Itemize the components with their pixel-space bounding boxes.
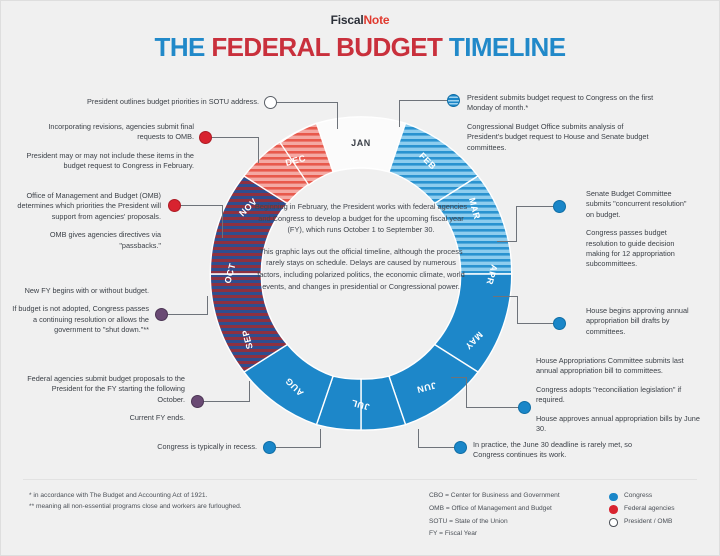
annotation-sotu-line-1: President outlines budget priorities in … [41,97,259,107]
annotation-dec-line-1: Incorporating revisions, agencies submit… [19,122,194,143]
leader-line-sep-h [202,401,250,402]
leader-line-nov-v [222,205,223,238]
annotation-jun-approps: House Appropriations Committee submits l… [536,356,706,434]
legend-label-president: President / OMB [624,518,672,525]
leader-line-apr-v [516,206,517,242]
leader-line-may-h2 [493,296,518,297]
title-word-the: THE [155,32,205,62]
center-paragraph-1: Beginning in February, the President wor… [253,201,469,236]
leader-line-jul-h [418,447,458,448]
annotation-nov-line-1: Office of Management and Budget (OMB) de… [9,191,161,222]
annotation-apr-line-1: Senate Budget Committee submits "concurr… [586,189,696,220]
annotation-nov-line-2: OMB gives agencies directives via "passb… [9,230,161,251]
leader-line-jun-h2 [451,377,467,378]
marker-dot-aug-recess[interactable] [263,441,276,454]
annotation-apr-line-2: Congress passes budget resolution to gui… [586,228,696,270]
footnote-2: ** meaning all non-essential programs cl… [29,501,242,512]
legend-key: Congress Federal agencies President / OM… [609,490,675,528]
leader-line-nov-h [180,205,223,206]
annotation-jun-line-2: Congress adopts "reconciliation legislat… [536,385,706,406]
annotation-feb-request: President submits budget request to Cong… [467,93,657,153]
brand-part-note: Note [363,13,389,27]
leader-line-sotu-v [337,102,338,129]
legend-item-president: President / OMB [609,516,675,529]
leader-line-sotu-h [276,102,338,103]
leader-line-apr-h [516,206,558,207]
month-label-jan: JAN [351,138,371,148]
marker-dot-dec-agencies[interactable] [199,131,212,144]
annotation-jul-practice: In practice, the June 30 deadline is rar… [473,440,635,461]
marker-dot-jun-approps[interactable] [518,401,531,414]
annotation-aug-line-1: Congress is typically in recess. [81,442,257,452]
legend-label-congress: Congress [624,492,652,499]
marker-dot-feb-request[interactable] [447,94,460,107]
legend-item-congress: Congress [609,490,675,503]
title-word-budget: BUDGET [336,32,442,62]
abbreviation-sotu: SOTU = State of the Union [429,516,560,529]
marker-dot-apr-resolution[interactable] [553,200,566,213]
annotation-nov-omb: Office of Management and Budget (OMB) de… [9,191,161,251]
abbreviation-fy: FY = Fiscal Year [429,528,560,541]
annotation-sotu: President outlines budget priorities in … [41,97,259,107]
annotation-dec-line-2: President may or may not include these i… [19,151,194,172]
annotation-may-line-1: House begins approving annual appropriat… [586,306,698,337]
annotation-jun-line-1: House Appropriations Committee submits l… [536,356,706,377]
footnote-1: * in accordance with The Budget and Acco… [29,490,242,501]
center-description: Beginning in February, the President wor… [253,201,469,292]
marker-dot-sotu[interactable] [264,96,277,109]
leader-line-jul-v [418,429,419,448]
leader-line-jun-v [466,377,467,408]
annotation-jun-line-3: House approves annual appropriation bill… [536,414,706,435]
abbreviation-cbo: CBO = Center for Business and Government [429,490,560,503]
annotation-may-house: House begins approving annual appropriat… [586,306,698,337]
annotation-feb-line-2: Congressional Budget Office submits anal… [467,122,657,153]
abbreviation-omb: OMB = Office of Management and Budget [429,503,560,516]
marker-dot-nov-omb[interactable] [168,199,181,212]
leader-line-sep-v [249,381,250,402]
leader-line-aug-v [320,429,321,448]
leader-line-feb-h [399,100,451,101]
page-title: THE FEDERAL BUDGET TIMELINE [1,32,719,63]
annotation-oct-line-1: New FY begins with or without budget. [9,286,149,296]
leader-line-dec-h [211,137,259,138]
annotation-oct-line-2: If budget is not adopted, Congress passe… [9,304,149,335]
annotation-sep-agencies: Federal agencies submit budget proposals… [25,374,185,424]
legend-swatch-congress-icon [609,493,618,502]
leader-line-oct-h [166,314,208,315]
leader-line-may-v [517,296,518,324]
marker-dot-may-house[interactable] [553,317,566,330]
leader-line-jun-h [466,407,522,408]
legend-item-agencies: Federal agencies [609,503,675,516]
annotation-jul-line-1: In practice, the June 30 deadline is rar… [473,440,635,461]
marker-dot-oct-newfy[interactable] [155,308,168,321]
footnotes: * in accordance with The Budget and Acco… [29,490,242,512]
annotation-oct-newfy: New FY begins with or without budget. If… [9,286,149,336]
annotation-dec-agencies: Incorporating revisions, agencies submit… [19,122,194,172]
abbreviation-list: CBO = Center for Business and Government… [429,490,560,541]
leader-line-may-h [517,323,557,324]
annotation-apr-resolution: Senate Budget Committee submits "concurr… [586,189,696,270]
leader-line-feb-v [399,100,400,127]
annotation-feb-line-1: President submits budget request to Cong… [467,93,657,114]
leader-line-oct-v [207,296,208,315]
annotation-sep-line-1: Federal agencies submit budget proposals… [25,374,185,405]
brand-part-fiscal: Fiscal [331,13,364,27]
legend-label-agencies: Federal agencies [624,505,675,512]
annotation-sep-line-2: Current FY ends. [25,413,185,423]
title-word-federal: FEDERAL [211,32,329,62]
infographic-page: FiscalNote THE FEDERAL BUDGET TIMELINE [0,0,720,556]
marker-dot-jul-practice[interactable] [454,441,467,454]
legend-swatch-agencies-icon [609,505,618,514]
title-word-timeline: TIMELINE [449,32,566,62]
marker-dot-sep-agencies[interactable] [191,395,204,408]
leader-line-aug-h [274,447,321,448]
center-paragraph-2: This graphic lays out the official timel… [253,246,469,292]
brand-logo: FiscalNote [1,13,719,27]
annotation-aug-recess: Congress is typically in recess. [81,442,257,452]
leader-line-dec-v [258,137,259,163]
leader-line-apr-h2 [497,241,517,242]
footer-divider [23,479,697,480]
legend-swatch-president-icon [609,518,618,527]
